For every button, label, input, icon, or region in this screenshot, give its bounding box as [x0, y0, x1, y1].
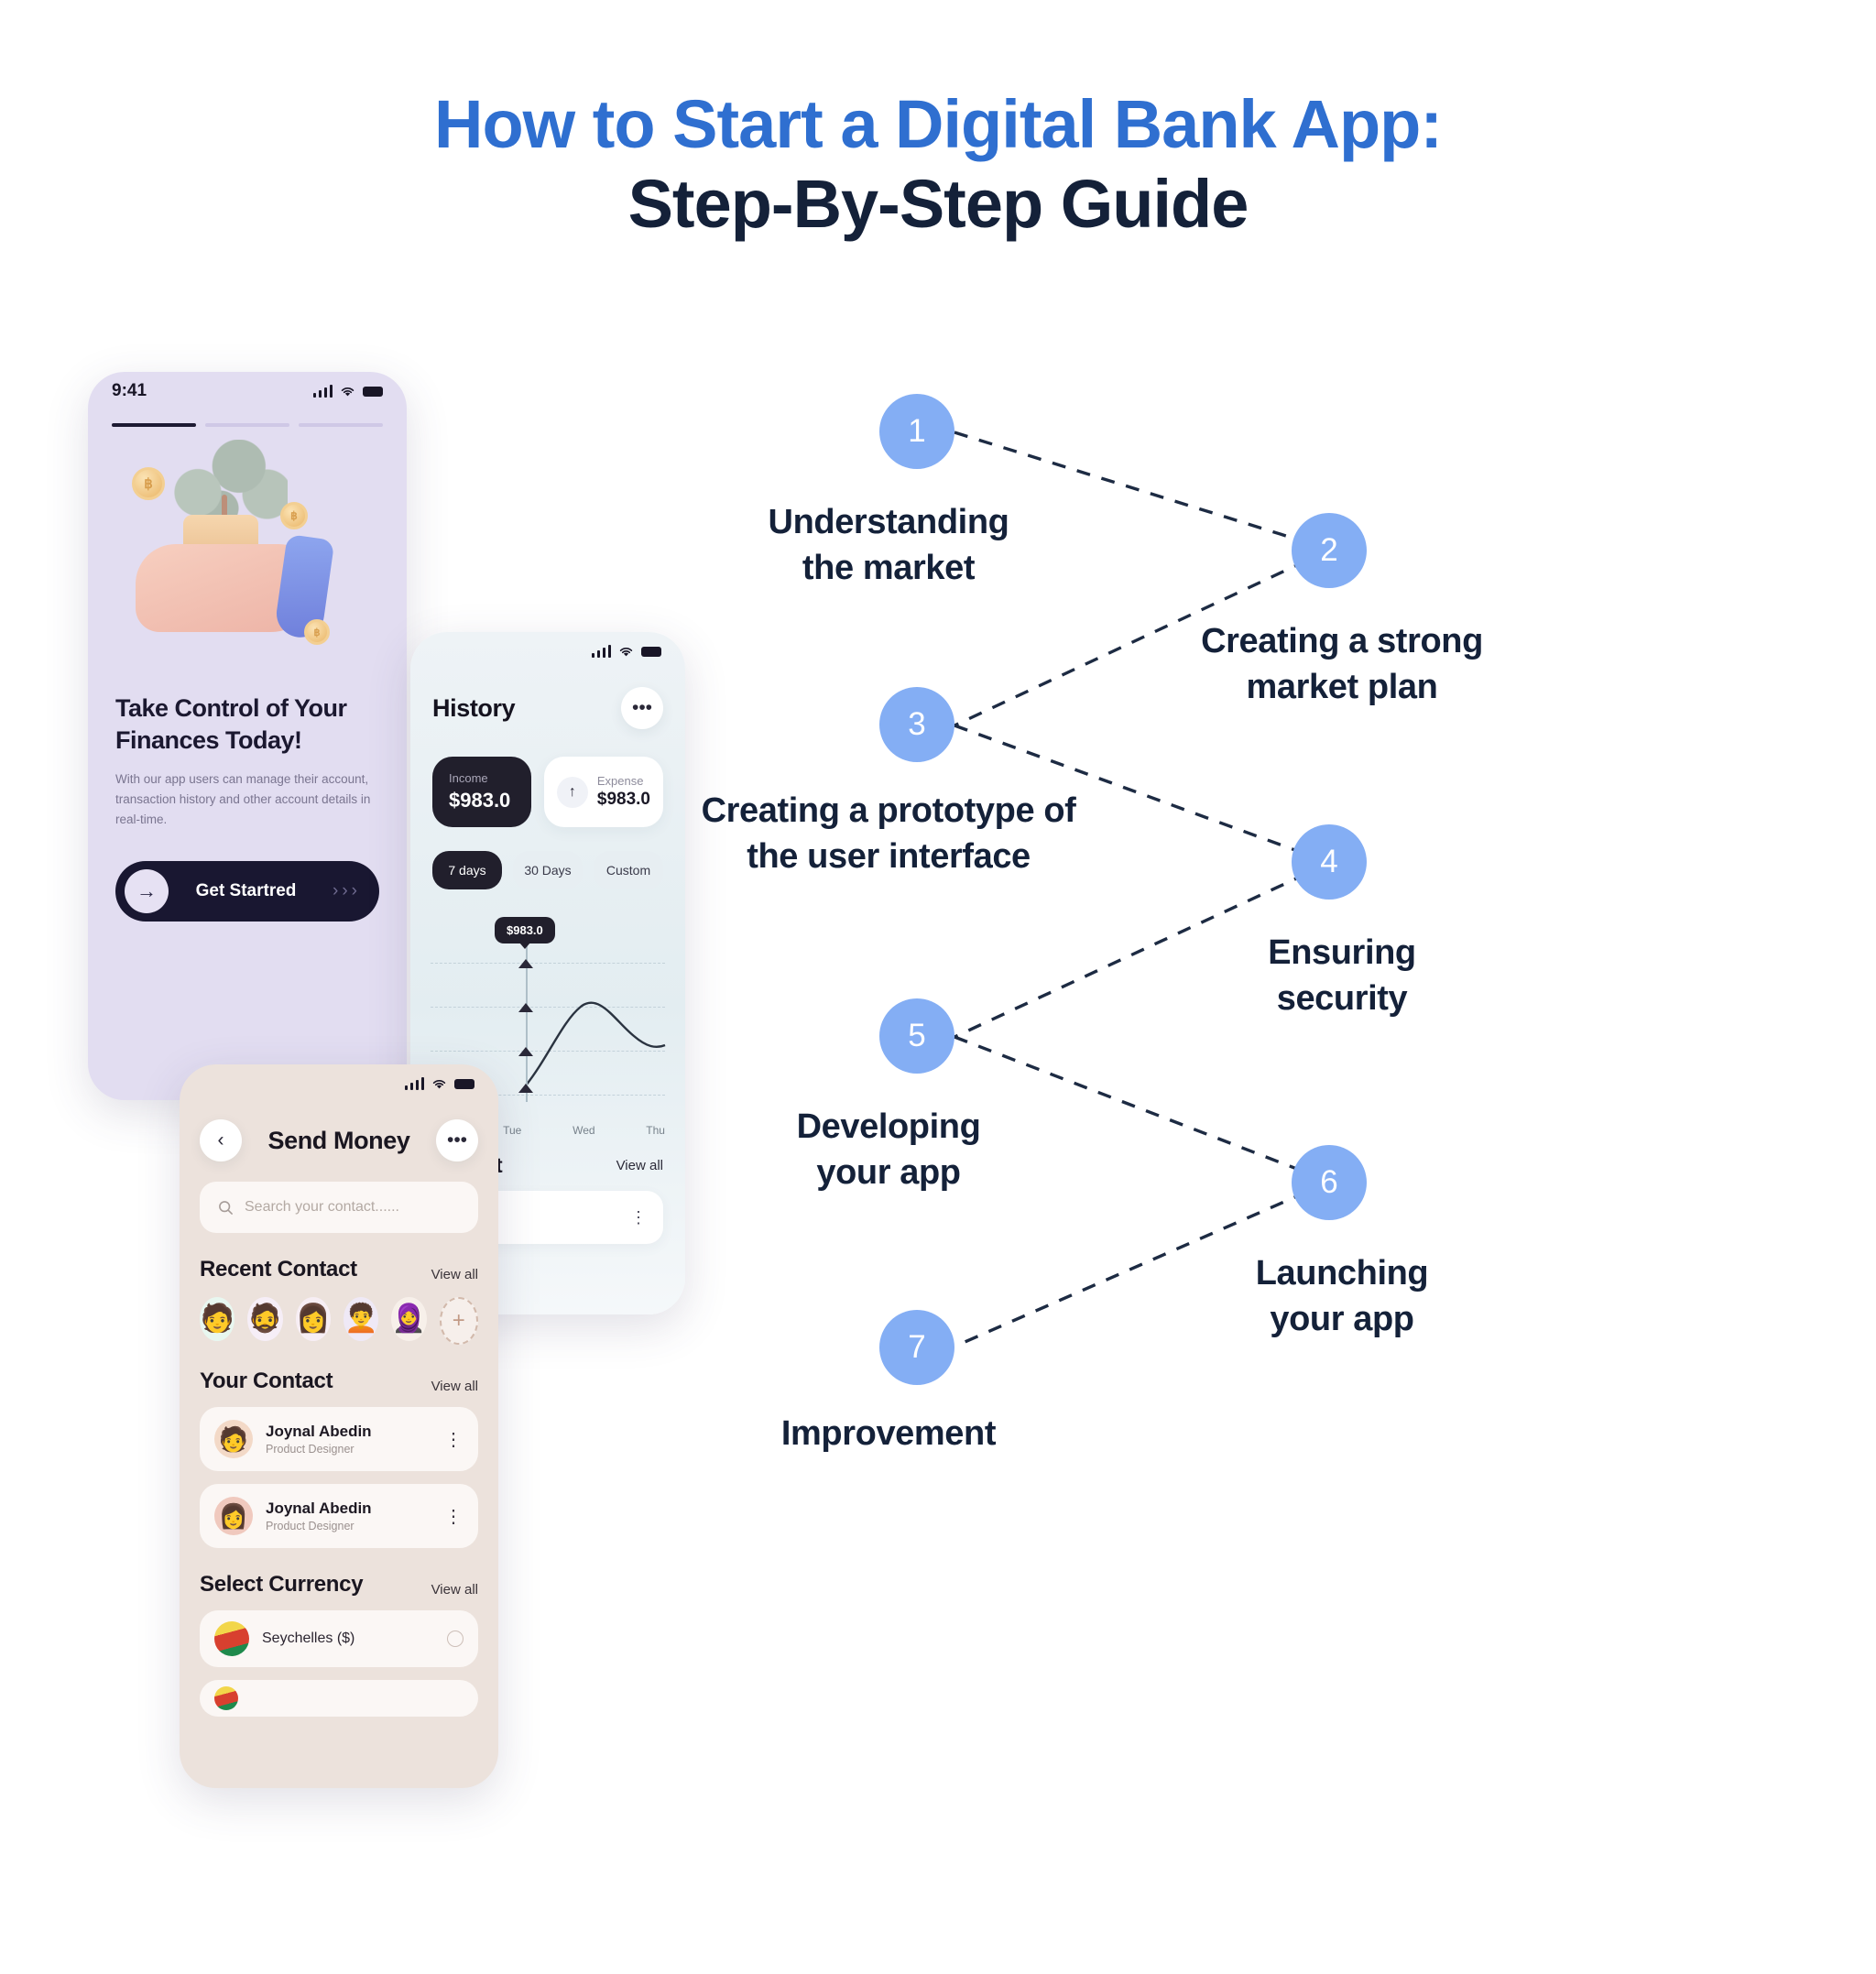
step-node-1[interactable]: 1 [879, 394, 954, 469]
status-bar: 9:41 [88, 372, 407, 410]
get-started-button[interactable]: → Get Startred ››› [115, 861, 379, 922]
search-icon [218, 1200, 234, 1216]
income-card[interactable]: Income $983.0 [432, 757, 531, 827]
contact-row[interactable]: 🧑 Joynal Abedin Product Designer ⋮ [200, 1407, 478, 1471]
avatar[interactable]: 👩 [296, 1297, 331, 1341]
history-title: History [432, 694, 515, 723]
chart-marker-icon [518, 959, 533, 968]
chart-tooltip: $983.0 [495, 917, 555, 943]
contact-name: Joynal Abedin [266, 1423, 431, 1441]
your-contact-header: Your Contact View all [180, 1345, 498, 1394]
infographic-canvas: How to Start a Digital Bank App: Step-By… [0, 0, 1876, 1974]
step-label-3: Creating a prototype of the user interfa… [586, 788, 1191, 879]
currency-row[interactable]: Seychelles ($) [200, 1610, 478, 1667]
hand-money-tree-illustration: ฿ ฿ ฿ [88, 427, 407, 693]
step-node-2[interactable]: 2 [1292, 513, 1367, 588]
step-number-badge: 7 [879, 1310, 954, 1385]
status-icons [313, 385, 384, 398]
battery-icon [363, 387, 383, 397]
row-more-icon[interactable]: ⋮ [630, 1208, 647, 1227]
phone-send-money: ‹ Send Money ••• Search your contact....… [180, 1064, 498, 1788]
step-label-1: Understanding the market [641, 499, 1136, 591]
signal-icon [592, 645, 612, 658]
battery-icon [641, 647, 661, 657]
recent-contact-view-all[interactable]: View all [431, 1267, 478, 1282]
flag-icon [214, 1686, 238, 1710]
step-number-badge: 4 [1292, 824, 1367, 900]
seychelles-flag-icon [214, 1621, 249, 1656]
wifi-icon [431, 1078, 447, 1090]
add-contact-button[interactable]: + [440, 1297, 478, 1345]
onboarding-headline: Take Control of Your Finances Today! [115, 693, 379, 757]
income-label: Income [449, 771, 515, 785]
step-label-2: Creating a strong market plan [1090, 618, 1594, 710]
contact-role: Product Designer [266, 1520, 431, 1532]
search-contact-input[interactable]: Search your contact...... [200, 1182, 478, 1233]
currency-radio[interactable] [447, 1630, 464, 1647]
get-started-label: Get Startred [159, 881, 333, 901]
onboarding-progress [88, 410, 407, 427]
step-number-badge: 1 [879, 394, 954, 469]
wifi-icon [340, 386, 355, 398]
signal-icon [405, 1077, 425, 1090]
filter-tab-30-days[interactable]: 30 Days [513, 851, 583, 889]
contact-name: Joynal Abedin [266, 1500, 431, 1518]
status-time: 9:41 [112, 381, 147, 401]
more-options-icon[interactable]: ••• [621, 687, 663, 729]
status-icons [405, 1077, 475, 1090]
step-number-badge: 3 [879, 687, 954, 762]
step-number-badge: 5 [879, 998, 954, 1074]
coin-icon: ฿ [132, 467, 165, 500]
contact-row[interactable]: 👩 Joynal Abedin Product Designer ⋮ [200, 1484, 478, 1548]
x-tick-wed: Wed [573, 1124, 594, 1137]
history-header: History ••• [410, 671, 685, 729]
avatar: 👩 [214, 1497, 253, 1535]
steps-flow: 1 Understanding the market 2 Creating a … [714, 357, 1722, 1795]
more-options-icon[interactable]: ••• [436, 1119, 478, 1161]
step-node-4[interactable]: 4 [1292, 824, 1367, 900]
step-number-badge: 6 [1292, 1145, 1367, 1220]
avatar[interactable]: 🧔 [247, 1297, 282, 1341]
phone-onboarding: 9:41 [88, 372, 407, 1100]
recent-contact-title: Recent Contact [200, 1257, 357, 1282]
contact-meta: Joynal Abedin Product Designer [266, 1500, 431, 1532]
phone-mockups-group: 9:41 [0, 0, 714, 1974]
send-money-title: Send Money [255, 1127, 423, 1155]
step-node-5[interactable]: 5 [879, 998, 954, 1074]
coin-icon: ฿ [280, 502, 308, 529]
chart-marker-icon [518, 1047, 533, 1056]
currency-name: Seychelles ($) [262, 1630, 434, 1647]
status-icons [592, 645, 662, 658]
step-number-badge: 2 [1292, 513, 1367, 588]
select-currency-title: Select Currency [200, 1572, 363, 1598]
recent-contact-header: Recent Contact View all [180, 1233, 498, 1282]
arrow-up-icon: ↑ [557, 777, 588, 808]
expense-label: Expense [597, 774, 650, 788]
search-placeholder: Search your contact...... [245, 1199, 399, 1216]
your-contact-view-all[interactable]: View all [431, 1379, 478, 1394]
status-bar [180, 1064, 498, 1103]
chart-marker-icon [518, 1084, 533, 1093]
step-label-5: Developing your app [641, 1104, 1136, 1195]
contact-role: Product Designer [266, 1443, 431, 1456]
select-currency-view-all[interactable]: View all [431, 1582, 478, 1598]
onboarding-body: Take Control of Your Finances Today! Wit… [88, 693, 407, 922]
chevrons-icon: ››› [333, 881, 370, 901]
step-label-7: Improvement [641, 1411, 1136, 1456]
avatar: 🧑 [214, 1420, 253, 1458]
wifi-icon [618, 646, 634, 658]
currency-row[interactable] [200, 1680, 478, 1717]
x-tick-tue: Tue [503, 1124, 521, 1137]
contact-more-icon[interactable]: ⋮ [444, 1428, 464, 1451]
step-label-4: Ensuring security [1090, 930, 1594, 1021]
coin-icon: ฿ [304, 619, 330, 645]
send-money-header: ‹ Send Money ••• [180, 1103, 498, 1161]
step-node-7[interactable]: 7 [879, 1310, 954, 1385]
recent-avatar-list: 🧑 🧔 👩 🧑‍🦱 🧕 + [180, 1282, 498, 1345]
step-node-6[interactable]: 6 [1292, 1145, 1367, 1220]
step-label-6: Launching your app [1090, 1250, 1594, 1342]
filter-tab-7-days[interactable]: 7 days [432, 851, 502, 889]
avatar[interactable]: 🧑 [200, 1297, 234, 1341]
signal-icon [313, 385, 333, 398]
step-node-3[interactable]: 3 [879, 687, 954, 762]
status-bar [410, 632, 685, 671]
onboarding-description: With our app users can manage their acco… [115, 769, 379, 830]
your-contact-title: Your Contact [200, 1369, 333, 1394]
chart-marker-icon [518, 1003, 533, 1012]
avatar[interactable]: 🧕 [391, 1297, 426, 1341]
contact-more-icon[interactable]: ⋮ [444, 1505, 464, 1528]
income-value: $983.0 [449, 789, 515, 813]
back-button-icon[interactable]: ‹ [200, 1119, 242, 1161]
select-currency-header: Select Currency View all [180, 1548, 498, 1598]
avatar[interactable]: 🧑‍🦱 [344, 1297, 378, 1341]
contact-meta: Joynal Abedin Product Designer [266, 1423, 431, 1456]
battery-icon [454, 1079, 474, 1089]
